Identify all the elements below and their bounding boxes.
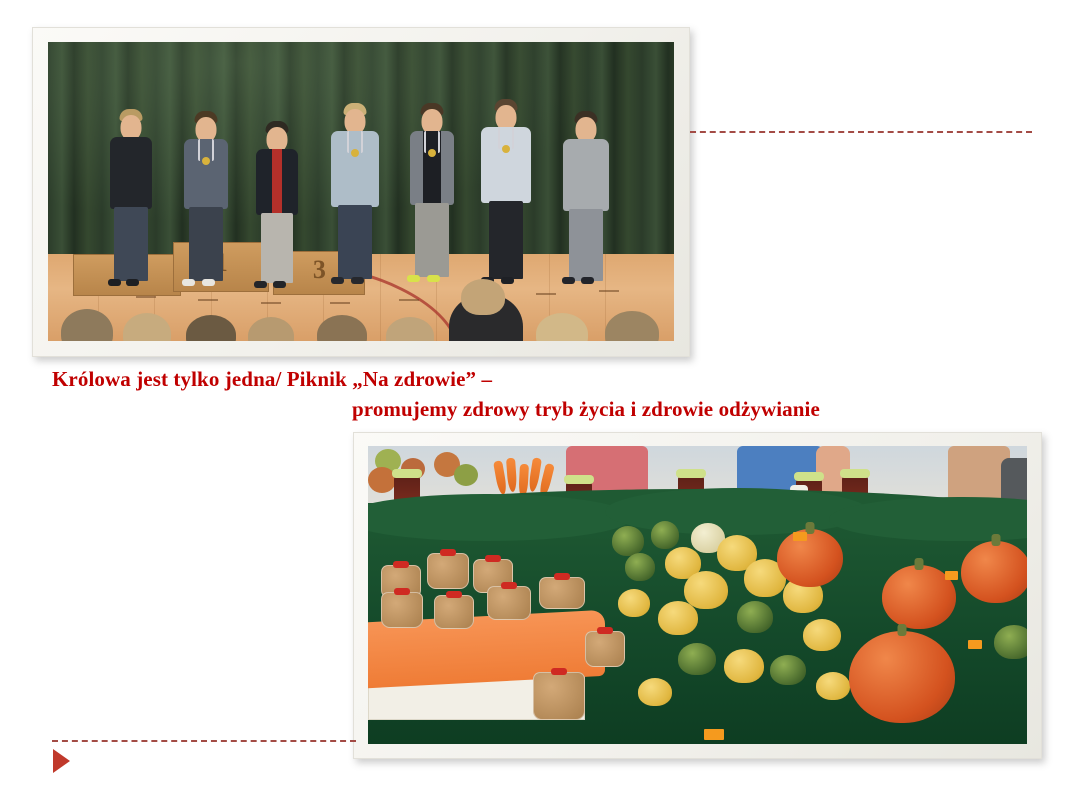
decorative-gourd — [803, 619, 841, 651]
pumpkin — [777, 529, 843, 587]
student-5 — [405, 103, 459, 299]
nut-bag — [585, 631, 625, 667]
produce-apple — [454, 464, 478, 486]
decorative-gourd — [770, 655, 806, 685]
decorative-gourd — [618, 589, 650, 617]
student-7 — [558, 111, 614, 299]
slide-caption: Królowa jest tylko jedna/ Piknik „Na zdr… — [52, 364, 1042, 424]
nut-bag — [487, 586, 531, 620]
student-2 — [179, 111, 233, 299]
harvest-stand-photo — [368, 446, 1027, 744]
nut-bag — [434, 595, 474, 629]
nut-bag — [427, 553, 469, 589]
stage-awards-photo: 2 1 3 — [48, 42, 674, 341]
price-tag — [704, 729, 724, 740]
bullet-play-marker-icon[interactable] — [53, 749, 70, 773]
slide-canvas: 2 1 3 — [0, 0, 1066, 800]
student-1 — [104, 109, 158, 299]
student-6 — [477, 99, 535, 299]
green-squash — [994, 625, 1027, 659]
floor-mark — [536, 293, 556, 295]
stage-awards-photo-frame[interactable]: 2 1 3 — [32, 27, 690, 357]
decorative-gourd — [638, 678, 672, 706]
student-4 — [327, 103, 383, 299]
decorative-gourd — [737, 601, 773, 633]
decorative-gourd — [816, 672, 850, 700]
price-tag — [968, 640, 982, 649]
top-right-dashed-connector — [690, 131, 1032, 133]
caption-line-1: Królowa jest tylko jedna/ Piknik „Na zdr… — [52, 367, 492, 391]
pumpkin — [849, 631, 955, 723]
nut-bag — [533, 672, 585, 720]
harvest-stand-photo-frame[interactable] — [353, 432, 1042, 759]
bottom-left-dashed-connector — [52, 740, 356, 742]
price-tag — [945, 571, 958, 580]
audience-foreground — [48, 296, 674, 341]
nut-bag — [381, 592, 423, 628]
price-tag — [793, 532, 807, 541]
decorative-gourd — [678, 643, 716, 675]
decorative-gourd — [724, 649, 764, 683]
student-3 — [251, 121, 303, 299]
caption-line-2: promujemy zdrowy tryb życia i zdrowie od… — [52, 394, 1042, 424]
decorative-gourd — [651, 521, 679, 549]
decorative-gourd — [684, 571, 728, 609]
nut-bag — [539, 577, 585, 609]
decorative-gourd — [612, 526, 644, 556]
pumpkin — [961, 541, 1027, 603]
podium-number-3: 3 — [313, 255, 326, 285]
cloth-fold — [605, 488, 869, 536]
decorative-gourd — [658, 601, 698, 635]
decorative-gourd — [625, 553, 655, 581]
